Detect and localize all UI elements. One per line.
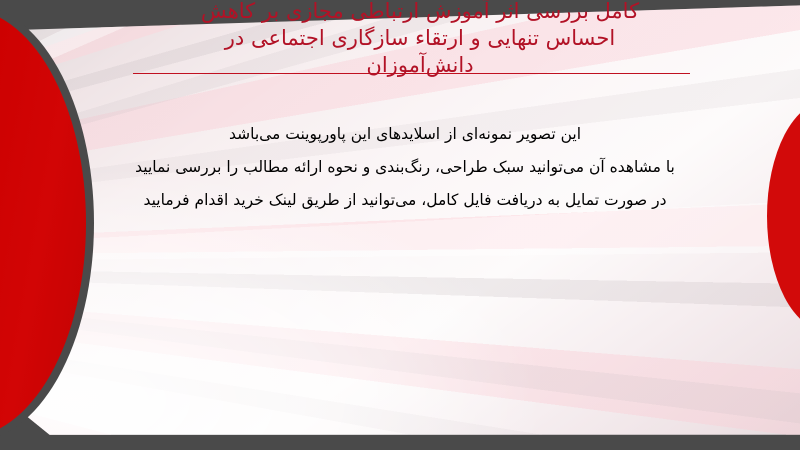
presentation-slide: کامل بررسی اثر آموزش ارتباطی مجازی بر کا…	[0, 0, 800, 450]
slide-title-line-2: احساس تنهایی و ارتقاء سازگاری اجتماعی در	[140, 25, 700, 52]
slide-body-text: این تصویر نمونه‌ای از اسلایدهای این پاور…	[60, 118, 750, 217]
slide-title-line-1: کامل بررسی اثر آموزش ارتباطی مجازی بر کا…	[140, 0, 700, 25]
slide-body-line-1: این تصویر نمونه‌ای از اسلایدهای این پاور…	[60, 118, 750, 151]
slide-title: کامل بررسی اثر آموزش ارتباطی مجازی بر کا…	[140, 0, 700, 79]
slide-body-line-3: در صورت تمایل به دریافت فایل کامل، می‌تو…	[60, 184, 750, 217]
slide-title-line-3: دانش‌آموزان	[140, 52, 700, 79]
slide-body-line-2: با مشاهده آن می‌توانید سبک طراحی، رنگ‌بن…	[60, 151, 750, 184]
